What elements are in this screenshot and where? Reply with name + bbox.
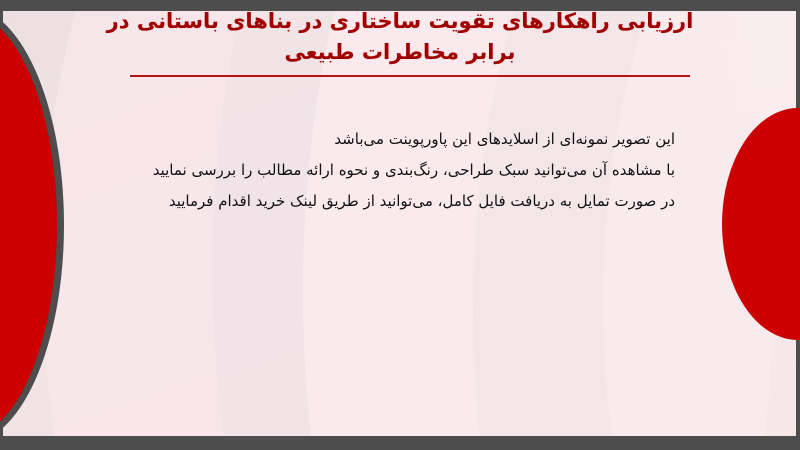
- slide-title-line-1: ارزیابی راهکارهای تقویت ساختاری در بناها…: [95, 6, 705, 37]
- slide-body-line-3: در صورت تمایل به دریافت فایل کامل، می‌تو…: [120, 186, 675, 217]
- slide-body-line-1: این تصویر نمونه‌ای از اسلایدهای این پاور…: [120, 124, 675, 155]
- slide-body-line-2: با مشاهده آن می‌توانید سبک طراحی، رنگ‌بن…: [120, 155, 675, 186]
- slide-frame-bottom: [0, 436, 800, 450]
- slide-body: این تصویر نمونه‌ای از اسلایدهای این پاور…: [120, 124, 675, 217]
- title-divider-rule: [130, 75, 690, 77]
- slide-title: ارزیابی راهکارهای تقویت ساختاری در بناها…: [95, 6, 705, 68]
- slide-title-line-2: برابر مخاطرات طبیعی: [95, 37, 705, 68]
- presentation-slide: ارزیابی راهکارهای تقویت ساختاری در بناها…: [0, 0, 800, 450]
